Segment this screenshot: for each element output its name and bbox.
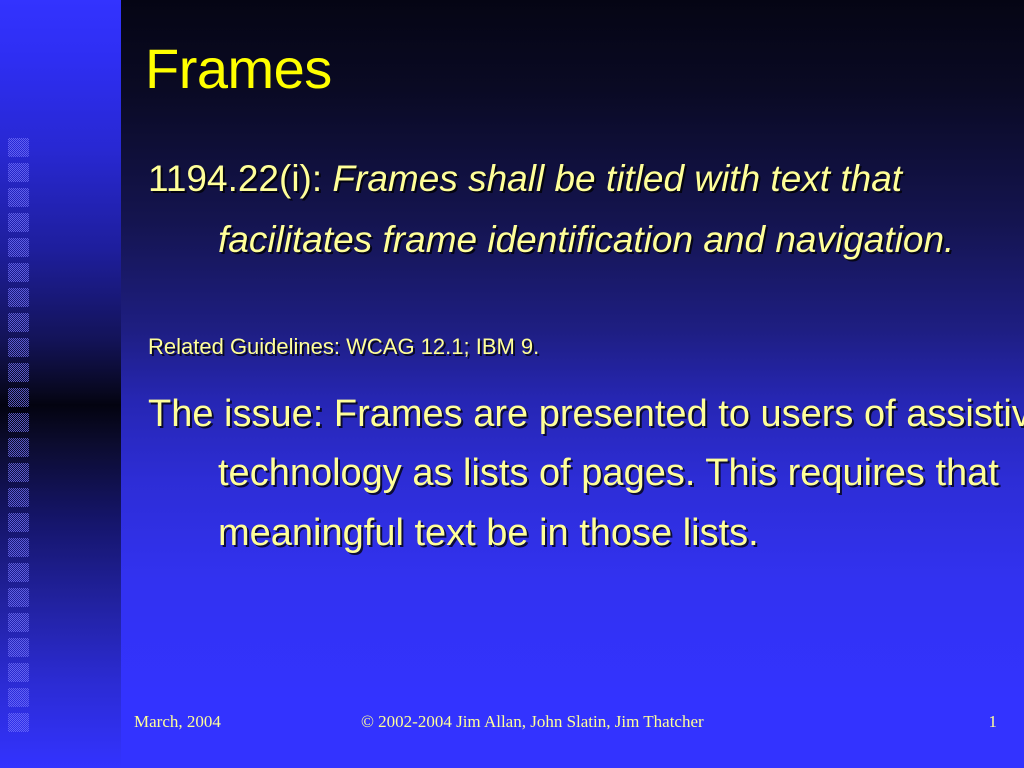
related-guidelines: Related Guidelines: WCAG 12.1; IBM 9. (148, 333, 539, 362)
statute-paragraph: 1194.22(i): Frames shall be titled with … (148, 148, 1024, 271)
presentation-slide: Frames 1194.22(i): Frames shall be title… (0, 0, 1024, 768)
sidebar-square-column (8, 0, 30, 768)
sidebar-square (8, 488, 29, 507)
sidebar-square (8, 338, 29, 357)
sidebar-square (8, 538, 29, 557)
slide-footer: March, 2004 © 2002-2004 Jim Allan, John … (121, 711, 1024, 739)
sidebar-square (8, 213, 29, 232)
sidebar-square (8, 263, 29, 282)
sidebar-square (8, 663, 29, 682)
footer-credit: © 2002-2004 Jim Allan, John Slatin, Jim … (361, 711, 704, 733)
sidebar-square (8, 513, 29, 532)
sidebar-square (8, 363, 29, 382)
sidebar-square (8, 288, 29, 307)
footer-date: March, 2004 (134, 711, 221, 733)
sidebar-square (8, 388, 29, 407)
sidebar-square (8, 638, 29, 657)
slide-title: Frames (145, 40, 332, 99)
sidebar-square (8, 713, 29, 732)
sidebar-square (8, 188, 29, 207)
slide-sidebar-decoration (0, 0, 121, 768)
sidebar-square (8, 138, 29, 157)
sidebar-square (8, 613, 29, 632)
sidebar-square (8, 688, 29, 707)
statute-reference: 1194.22(i): (148, 158, 332, 199)
sidebar-square (8, 413, 29, 432)
sidebar-square (8, 563, 29, 582)
sidebar-square (8, 588, 29, 607)
sidebar-square (8, 438, 29, 457)
sidebar-square (8, 313, 29, 332)
sidebar-square (8, 463, 29, 482)
issue-paragraph: The issue: Frames are presented to users… (148, 385, 1024, 563)
footer-page-number: 1 (989, 711, 998, 733)
sidebar-square (8, 163, 29, 182)
sidebar-square (8, 238, 29, 257)
